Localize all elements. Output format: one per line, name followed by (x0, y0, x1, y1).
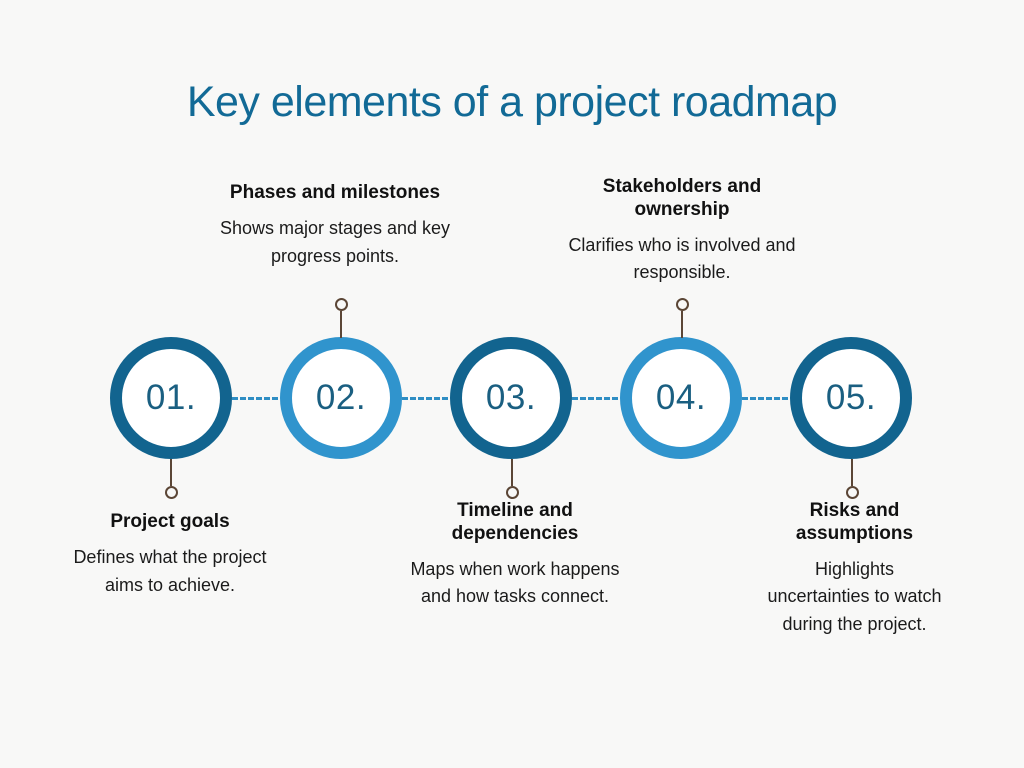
label-description-05: Highlights uncertainties to watch during… (762, 556, 947, 640)
connector-01-02 (232, 397, 278, 400)
label-heading-02: Phases and milestones (215, 182, 455, 205)
roadmap-label-04: Stakeholders and ownership Clarifies who… (562, 176, 802, 287)
stem-01 (170, 459, 172, 486)
pin-icon-05 (846, 486, 859, 499)
node-number-01: 01. (110, 337, 232, 459)
label-description-02: Shows major stages and key progress poin… (215, 215, 455, 271)
connector-02-03 (402, 397, 448, 400)
label-description-03: Maps when work happens and how tasks con… (410, 556, 620, 612)
label-heading-01: Project goals (60, 511, 280, 534)
pin-icon-02 (335, 298, 348, 311)
roadmap-node-02[interactable]: 02. (280, 337, 402, 459)
connector-03-04 (572, 397, 618, 400)
roadmap-label-05: Risks and assumptions Highlights uncerta… (762, 500, 947, 639)
connector-04-05 (742, 397, 788, 400)
stem-05 (851, 459, 853, 486)
roadmap-timeline: 01. Project goals Defines what the proje… (0, 0, 1024, 768)
roadmap-node-04[interactable]: 04. (620, 337, 742, 459)
pin-icon-03 (506, 486, 519, 499)
node-number-03: 03. (450, 337, 572, 459)
label-heading-04: Stakeholders and ownership (562, 176, 802, 222)
roadmap-label-01: Project goals Defines what the project a… (60, 511, 280, 600)
node-number-05: 05. (790, 337, 912, 459)
pin-icon-04 (676, 298, 689, 311)
roadmap-label-03: Timeline and dependencies Maps when work… (410, 500, 620, 611)
roadmap-node-03[interactable]: 03. (450, 337, 572, 459)
stem-03 (511, 459, 513, 486)
node-number-04: 04. (620, 337, 742, 459)
roadmap-node-01[interactable]: 01. (110, 337, 232, 459)
node-number-02: 02. (280, 337, 402, 459)
roadmap-node-05[interactable]: 05. (790, 337, 912, 459)
label-heading-05: Risks and assumptions (762, 500, 947, 546)
pin-icon-01 (165, 486, 178, 499)
stem-04 (681, 311, 683, 338)
stem-02 (340, 311, 342, 338)
roadmap-label-02: Phases and milestones Shows major stages… (215, 182, 455, 271)
label-description-01: Defines what the project aims to achieve… (60, 544, 280, 600)
label-description-04: Clarifies who is involved and responsibl… (562, 232, 802, 288)
label-heading-03: Timeline and dependencies (410, 500, 620, 546)
